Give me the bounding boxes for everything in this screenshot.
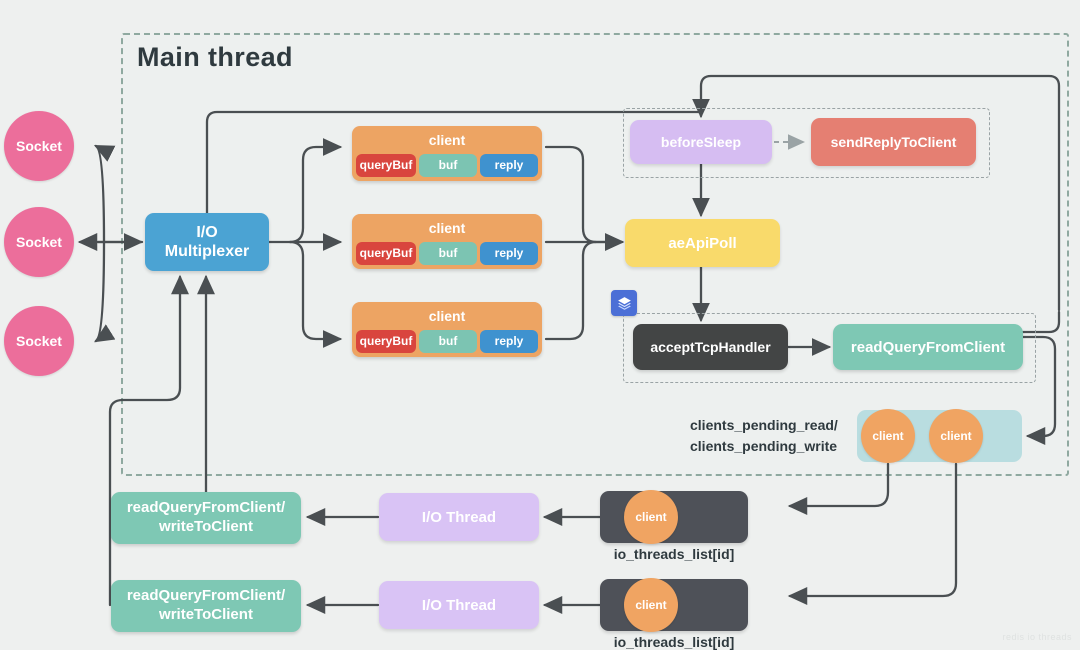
client-querybuf-segment[interactable]: queryBuf: [356, 154, 416, 177]
client-card-3[interactable]: client queryBuf buf reply: [352, 302, 542, 357]
clients-pending-write-label: clients_pending_write: [690, 436, 850, 457]
ae-api-poll-node[interactable]: aeApiPoll: [625, 219, 780, 267]
socket-3[interactable]: Socket: [4, 306, 74, 376]
accept-tcp-handler-node[interactable]: acceptTcpHandler: [633, 324, 788, 370]
client-card-2[interactable]: client queryBuf buf reply: [352, 214, 542, 269]
accept-tcp-handler-label: acceptTcpHandler: [650, 339, 770, 355]
io-threads-list-client-label: client: [635, 510, 666, 524]
io-handler-node-1[interactable]: readQueryFromClient/ writeToClient: [111, 492, 301, 544]
socket-label: Socket: [16, 234, 62, 250]
send-reply-to-client-node[interactable]: sendReplyToClient: [811, 118, 976, 166]
io-handler-label-line2: writeToClient: [127, 606, 285, 625]
io-handler-node-2[interactable]: readQueryFromClient/ writeToClient: [111, 580, 301, 632]
client-reply-segment[interactable]: reply: [480, 154, 538, 177]
layers-icon: [611, 290, 637, 316]
io-thread-node-1[interactable]: I/O Thread: [379, 493, 539, 541]
io-handler-label-line1: readQueryFromClient/: [127, 499, 285, 518]
io-threads-list-client-1[interactable]: client: [624, 490, 678, 544]
io-threads-list-label-1: io_threads_list[id]: [574, 546, 774, 562]
send-reply-to-client-label: sendReplyToClient: [831, 134, 957, 150]
client-reply-segment[interactable]: reply: [480, 330, 538, 353]
socket-label: Socket: [16, 333, 62, 349]
io-thread-label: I/O Thread: [422, 509, 496, 526]
clients-pending-read-label: clients_pending_read/: [690, 415, 850, 436]
read-query-from-client-node[interactable]: readQueryFromClient: [833, 324, 1023, 370]
page-title: Main thread: [137, 42, 293, 73]
client-buf-segment[interactable]: buf: [419, 242, 477, 265]
client-reply-segment[interactable]: reply: [480, 242, 538, 265]
client-querybuf-segment[interactable]: queryBuf: [356, 330, 416, 353]
socket-2[interactable]: Socket: [4, 207, 74, 277]
before-sleep-node[interactable]: beforeSleep: [630, 120, 772, 164]
client-title: client: [352, 302, 542, 330]
before-sleep-label: beforeSleep: [661, 134, 741, 150]
io-handler-label-line1: readQueryFromClient/: [127, 587, 285, 606]
ae-api-poll-label: aeApiPoll: [668, 235, 736, 252]
socket-1[interactable]: Socket: [4, 111, 74, 181]
io-multiplexer-node[interactable]: I/O Multiplexer: [145, 213, 269, 271]
io-threads-list-label-2: io_threads_list[id]: [574, 634, 774, 650]
io-multiplexer-label-line2: Multiplexer: [165, 242, 249, 261]
client-buf-segment[interactable]: buf: [419, 330, 477, 353]
diagram-canvas: Main thread: [0, 0, 1080, 646]
clients-pending-label: clients_pending_read/ clients_pending_wr…: [690, 415, 850, 457]
client-title: client: [352, 214, 542, 242]
pending-client-label: client: [872, 429, 903, 443]
io-thread-label: I/O Thread: [422, 597, 496, 614]
io-thread-node-2[interactable]: I/O Thread: [379, 581, 539, 629]
io-handler-label-line2: writeToClient: [127, 518, 285, 537]
client-querybuf-segment[interactable]: queryBuf: [356, 242, 416, 265]
watermark: redis io threads: [1002, 632, 1072, 642]
client-title: client: [352, 126, 542, 154]
pending-client-circle-1[interactable]: client: [861, 409, 915, 463]
io-threads-list-client-label: client: [635, 598, 666, 612]
pending-client-circle-2[interactable]: client: [929, 409, 983, 463]
socket-label: Socket: [16, 138, 62, 154]
read-query-from-client-label: readQueryFromClient: [851, 339, 1005, 356]
client-buf-segment[interactable]: buf: [419, 154, 477, 177]
io-threads-list-client-2[interactable]: client: [624, 578, 678, 632]
pending-client-label: client: [940, 429, 971, 443]
client-card-1[interactable]: client queryBuf buf reply: [352, 126, 542, 181]
io-multiplexer-label-line1: I/O: [165, 223, 249, 242]
